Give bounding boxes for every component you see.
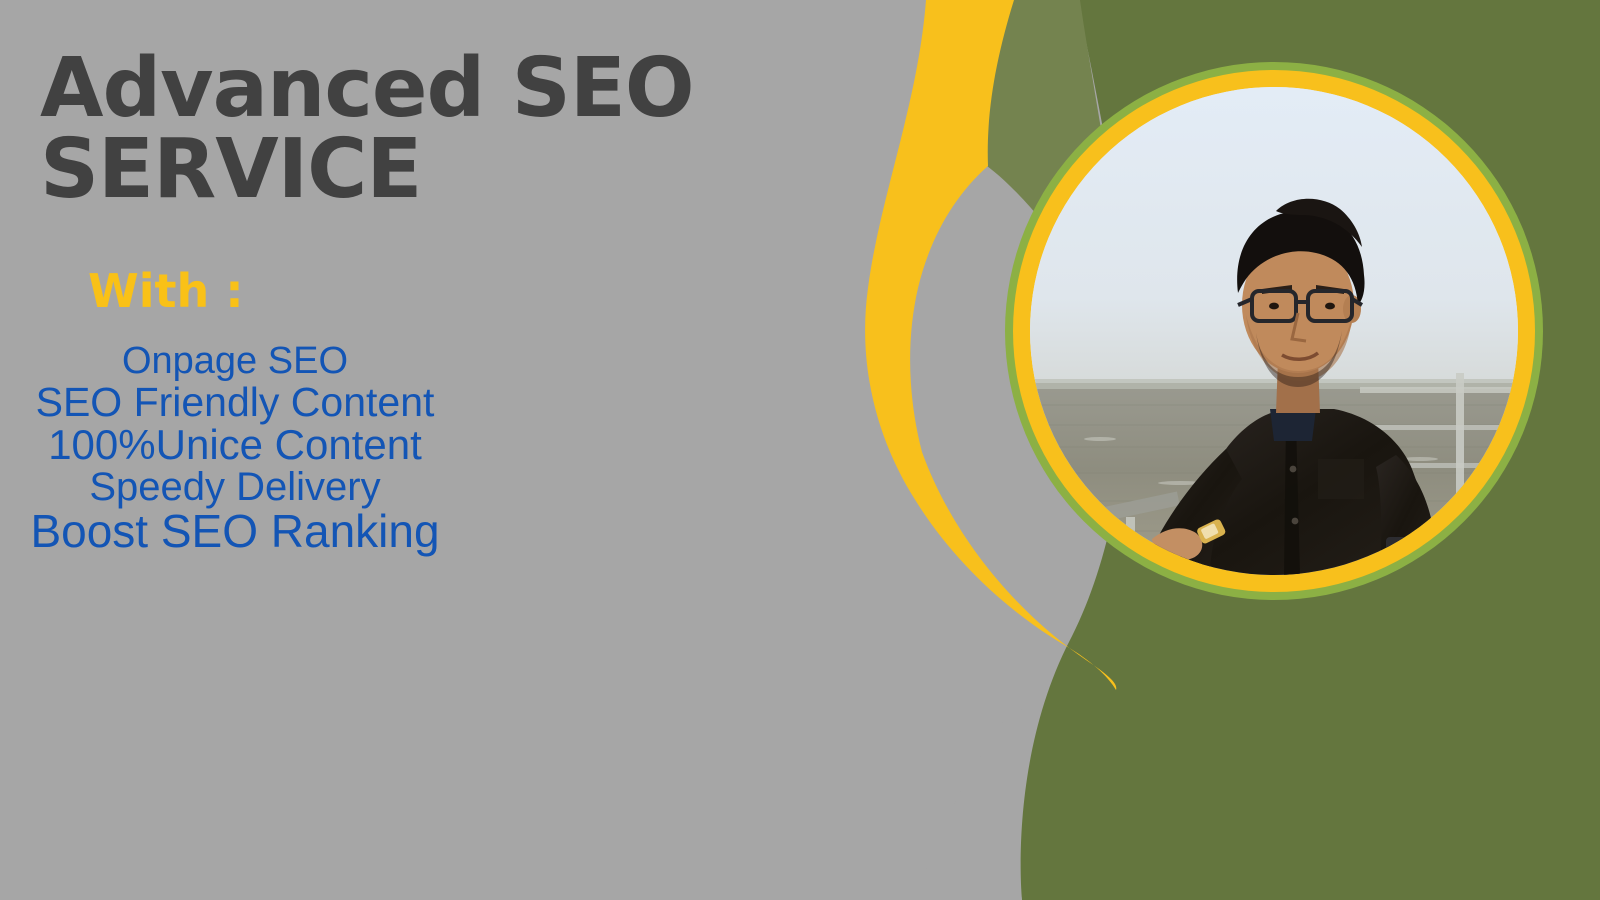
list-item: Boost SEO Ranking bbox=[0, 508, 470, 555]
portrait-circle bbox=[1005, 62, 1543, 600]
list-item: Speedy Delivery bbox=[0, 467, 470, 508]
promo-banner: Advanced SEO SERVICE With : Onpage SEO S… bbox=[0, 0, 1600, 900]
list-item: Onpage SEO bbox=[0, 342, 470, 381]
avatar bbox=[1030, 87, 1518, 575]
list-item: 100%Unice Content bbox=[0, 423, 470, 466]
copy-block: Advanced SEO SERVICE With : Onpage SEO S… bbox=[0, 0, 900, 900]
list-item: SEO Friendly Content bbox=[0, 381, 470, 423]
with-label: With : bbox=[88, 268, 244, 314]
headline-line-2: SERVICE bbox=[40, 129, 760, 210]
feature-list: Onpage SEO SEO Friendly Content 100%Unic… bbox=[0, 342, 470, 555]
page-title: Advanced SEO SERVICE bbox=[40, 48, 760, 210]
